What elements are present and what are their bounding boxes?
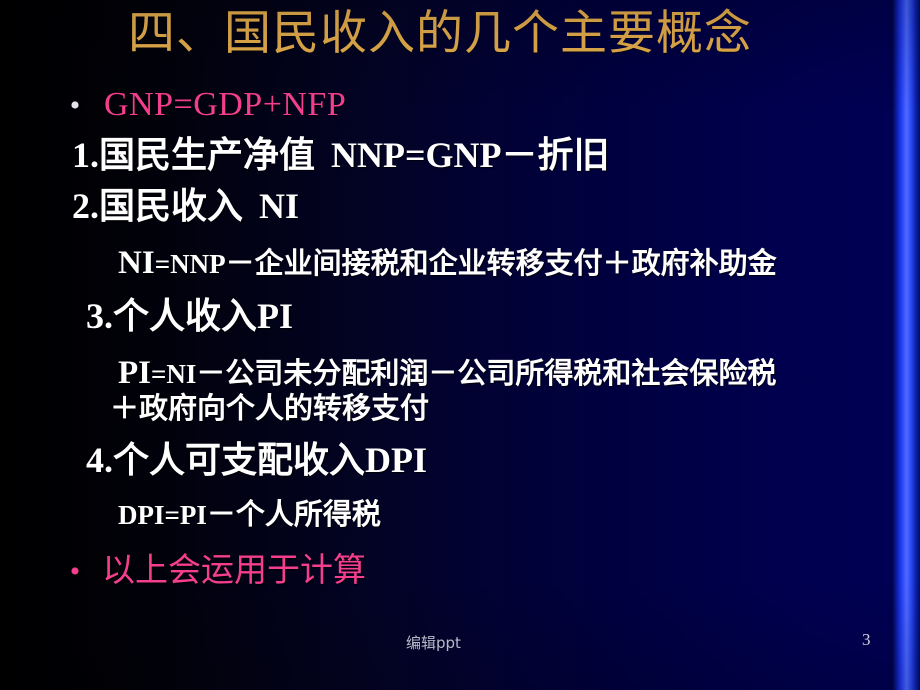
item-4-eq-text: 个人所得税	[236, 497, 381, 531]
item-2-equation: NI=NNP－企业间接税和企业转移支付＋政府补助金	[118, 243, 892, 283]
gnp-formula-text: GNP=GDP+NFP	[92, 86, 346, 124]
item-3-eq-symbol: PI	[118, 355, 151, 391]
footer-label: 编辑ppt	[406, 632, 461, 653]
item-1-number: 1.	[72, 135, 99, 175]
slide-number: 3	[862, 630, 871, 650]
bullet-point-icon: •	[58, 91, 92, 121]
item-4-number: 4.	[86, 440, 113, 480]
bullet-point-icon: •	[58, 557, 92, 587]
item-2-eq-text: 企业间接税和企业转移支付＋政府补助金	[255, 246, 777, 280]
item-4-equation: DPI=PI－个人所得税	[118, 497, 892, 533]
item-1-formula-minus: －	[502, 135, 538, 176]
item-3-equation-line-1: PI=NI－公司未分配利润－公司所得税和社会保险税	[118, 353, 892, 393]
list-item-1: 1.国民生产净值NNP=GNP－折旧	[72, 134, 892, 177]
item-2-number: 2.	[72, 186, 99, 226]
item-3-eq-text-1: －公司未分配利润－公司所得税和社会保险税	[196, 356, 776, 390]
list-item-3: 3.个人收入PI	[86, 295, 892, 338]
item-3-abbr: PI	[257, 296, 293, 336]
presentation-slide: 四、国民收入的几个主要概念 • GNP=GDP+NFP 1.国民生产净值NNP=…	[0, 0, 920, 690]
item-3-eq-operand: =NI	[151, 359, 196, 389]
item-4-eq-head: DPI=PI	[118, 500, 207, 530]
slide-title: 四、国民收入的几个主要概念	[0, 8, 880, 61]
list-item-2: 2.国民收入NI	[72, 185, 892, 228]
item-2-label: 国民收入	[99, 186, 243, 227]
item-4-abbr: DPI	[365, 440, 427, 480]
bullet-item-gnp: • GNP=GDP+NFP	[58, 86, 892, 124]
item-4-eq-minus: －	[207, 497, 236, 531]
summary-text: 以上会运用于计算	[92, 543, 366, 591]
item-4-label: 个人可支配收入	[113, 440, 365, 481]
item-2-eq-minus: －	[226, 246, 255, 280]
item-3-label: 个人收入	[113, 296, 257, 337]
item-2-eq-operand: =NNP	[155, 249, 226, 279]
slide-body: • GNP=GDP+NFP 1.国民生产净值NNP=GNP－折旧 2.国民收入N…	[0, 86, 892, 591]
item-2-eq-symbol: NI	[118, 245, 155, 281]
item-1-formula-head: NNP=GNP	[331, 135, 502, 175]
right-accent-stripe	[892, 0, 920, 690]
item-3-equation-line-2: ＋政府向个人的转移支付	[110, 391, 892, 427]
item-3-eq-text-2: ＋政府向个人的转移支付	[110, 391, 429, 425]
item-1-formula-tail: 折旧	[538, 135, 610, 176]
item-1-label: 国民生产净值	[99, 135, 315, 176]
list-item-4: 4.个人可支配收入DPI	[86, 439, 892, 482]
item-2-abbr: NI	[259, 186, 299, 226]
item-3-number: 3.	[86, 296, 113, 336]
bullet-item-summary: • 以上会运用于计算	[58, 543, 892, 591]
